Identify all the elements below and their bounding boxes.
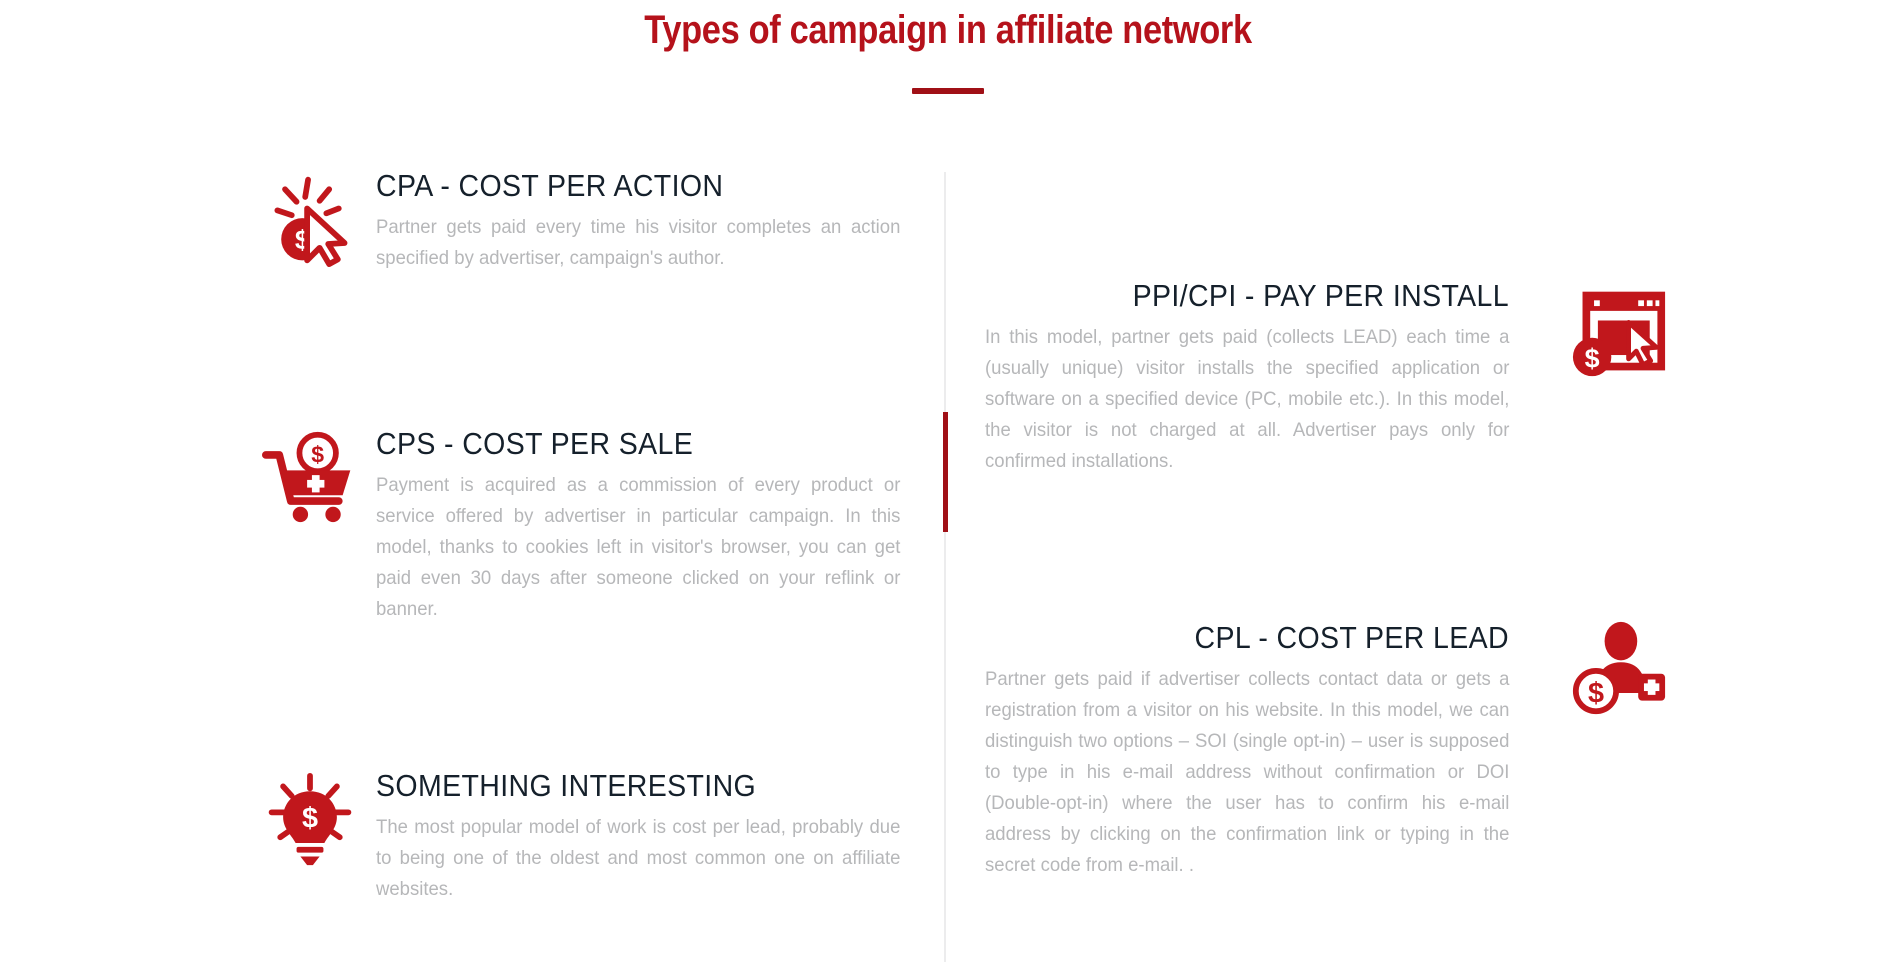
page-header: Types of campaign in affiliate network — [0, 0, 1896, 94]
item-cps-text: Payment is acquired as a commission of e… — [376, 470, 900, 625]
item-something-interesting-body: SOMETHING INTERESTING The most popular m… — [376, 768, 900, 905]
infographic-page: Types of campaign in affiliate network — [0, 0, 1896, 962]
browser-window-download-dollar-icon: $ — [1571, 284, 1667, 380]
item-ppi-cpi-body: PPI/CPI - PAY PER INSTALL In this model,… — [985, 278, 1509, 477]
item-cpl-title: CPL - COST PER LEAD — [1027, 620, 1509, 656]
item-ppi-cpi-title: PPI/CPI - PAY PER INSTALL — [1027, 278, 1509, 314]
item-cps-title: CPS - COST PER SALE — [376, 426, 858, 462]
item-something-interesting-title: SOMETHING INTERESTING — [376, 768, 858, 804]
item-cps-body: CPS - COST PER SALE Payment is acquired … — [376, 426, 900, 625]
title-accent-bar — [912, 88, 984, 94]
cursor-click-dollar-icon: $ — [262, 172, 358, 268]
item-cpl-body: CPL - COST PER LEAD Partner gets paid if… — [985, 620, 1509, 881]
item-cpl-text: Partner gets paid if advertiser collects… — [985, 664, 1509, 881]
content-columns: $ CPA - COST PER ACTION Partner gets pai… — [0, 168, 1896, 962]
lightbulb-dollar-icon: $ — [262, 772, 358, 868]
svg-text:$: $ — [1585, 344, 1600, 374]
item-ppi-cpi-text: In this model, partner gets paid (collec… — [985, 322, 1509, 477]
svg-text:$: $ — [311, 442, 324, 468]
item-cpa-title: CPA - COST PER ACTION — [376, 168, 858, 204]
person-add-dollar-icon: $ — [1571, 620, 1667, 716]
svg-text:$: $ — [302, 803, 318, 835]
page-title: Types of campaign in affiliate network — [133, 6, 1764, 54]
item-cpa-text: Partner gets paid every time his visitor… — [376, 212, 900, 274]
item-cpa-body: CPA - COST PER ACTION Partner gets paid … — [376, 168, 900, 274]
svg-text:$: $ — [1588, 678, 1604, 710]
shopping-cart-dollar-icon: $ — [262, 430, 358, 526]
item-something-interesting-text: The most popular model of work is cost p… — [376, 812, 900, 905]
